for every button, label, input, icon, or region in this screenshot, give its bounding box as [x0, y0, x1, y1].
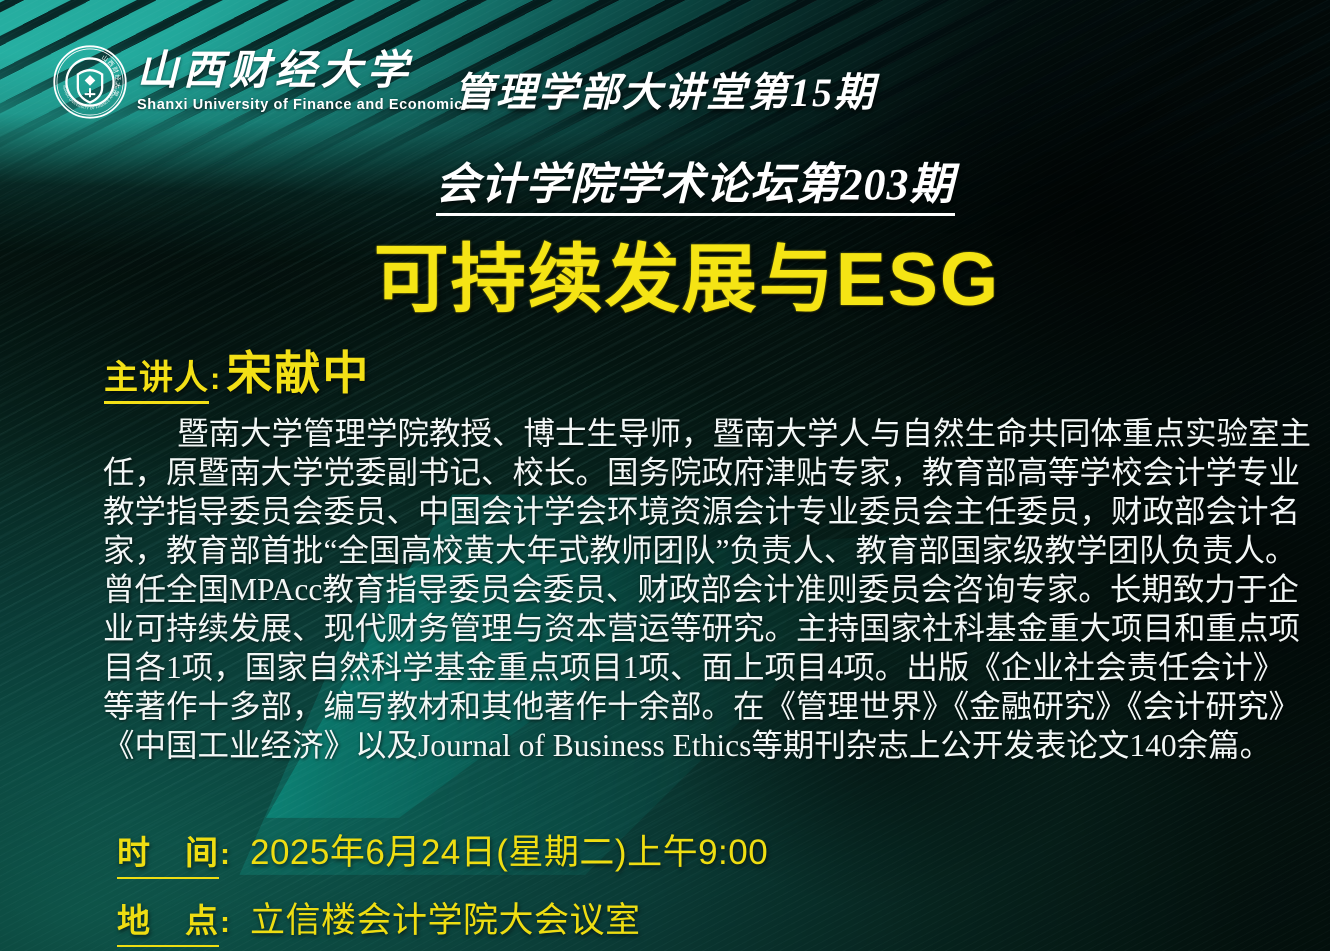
biography-line: 《中国工业经济》以及Journal of Business Ethics等期刊杂…: [103, 726, 1279, 765]
biography-line: 任，原暨南大学党委副书记、校长。国务院政府津贴专家，教育部高等学校会计学专业: [103, 453, 1279, 492]
speaker-colon: :: [210, 361, 220, 397]
series-heading-secondary-text: 会计学院学术论坛第203期: [436, 160, 955, 216]
biography-line: 目各1项，国家自然科学基金重点项目1项、面上项目4项。出版《企业社会责任会计》: [103, 648, 1279, 687]
event-place-row: 地 点 : 立信楼会计学院大会议室: [117, 892, 768, 947]
biography-line: 暨南大学管理学院教授、博士生导师，暨南大学人与自然生命共同体重点实验室主: [103, 414, 1279, 453]
event-place-label: 地 点: [117, 894, 219, 947]
biography-line: 家，教育部首批“全国高校黄大年式教师团队”负责人、教育部国家级教学团队负责人。: [103, 531, 1279, 570]
event-time-label: 时 间: [117, 826, 219, 879]
speaker-biography: 暨南大学管理学院教授、博士生导师，暨南大学人与自然生命共同体重点实验室主 任，原…: [103, 414, 1279, 765]
poster-main-title-text: 可持续发展与ESG: [374, 237, 1000, 321]
speaker-row: 主讲人 : 宋献中: [104, 337, 370, 404]
biography-line: 业可持续发展、现代财务管理与资本营运等研究。主持国家社科基金重大项目和重点项: [103, 609, 1279, 648]
biography-line: 曾任全国MPAcc教育指导委员会委员、财政部会计准则委员会咨询专家。长期致力于企: [103, 570, 1279, 609]
event-place-colon: :: [220, 906, 230, 940]
lecture-poster: 山西财经大学 SHANXI UNIVERSITY OF FINANCE AND …: [0, 0, 1330, 951]
event-details: 时 间 : 2025年6月24日(星期二)上午9:00 地 点 : 立信楼会计学…: [117, 824, 768, 951]
poster-content: 山西财经大学 SHANXI UNIVERSITY OF FINANCE AND …: [0, 0, 1330, 951]
event-time-row: 时 间 : 2025年6月24日(星期二)上午9:00: [117, 824, 768, 879]
poster-main-title: 可持续发展与ESG: [0, 218, 1330, 327]
series-heading-primary: 管理学部大讲堂第15期: [0, 60, 1330, 118]
speaker-name: 宋献中: [226, 337, 370, 403]
event-place-value: 立信楼会计学院大会议室: [250, 892, 641, 943]
biography-line: 教学指导委员会委员、中国会计学会环境资源会计专业委员会主任委员，财政部会计名: [103, 492, 1279, 531]
series-heading-secondary: 会计学院学术论坛第203期: [0, 148, 1330, 212]
biography-line: 等著作十多部，编写教材和其他著作十余部。在《管理世界》《金融研究》《会计研究》: [103, 687, 1279, 726]
series-heading-primary-text: 管理学部大讲堂第15期: [454, 70, 876, 115]
speaker-label: 主讲人: [104, 350, 209, 404]
event-time-colon: :: [220, 838, 230, 872]
event-time-value: 2025年6月24日(星期二)上午9:00: [250, 824, 768, 875]
